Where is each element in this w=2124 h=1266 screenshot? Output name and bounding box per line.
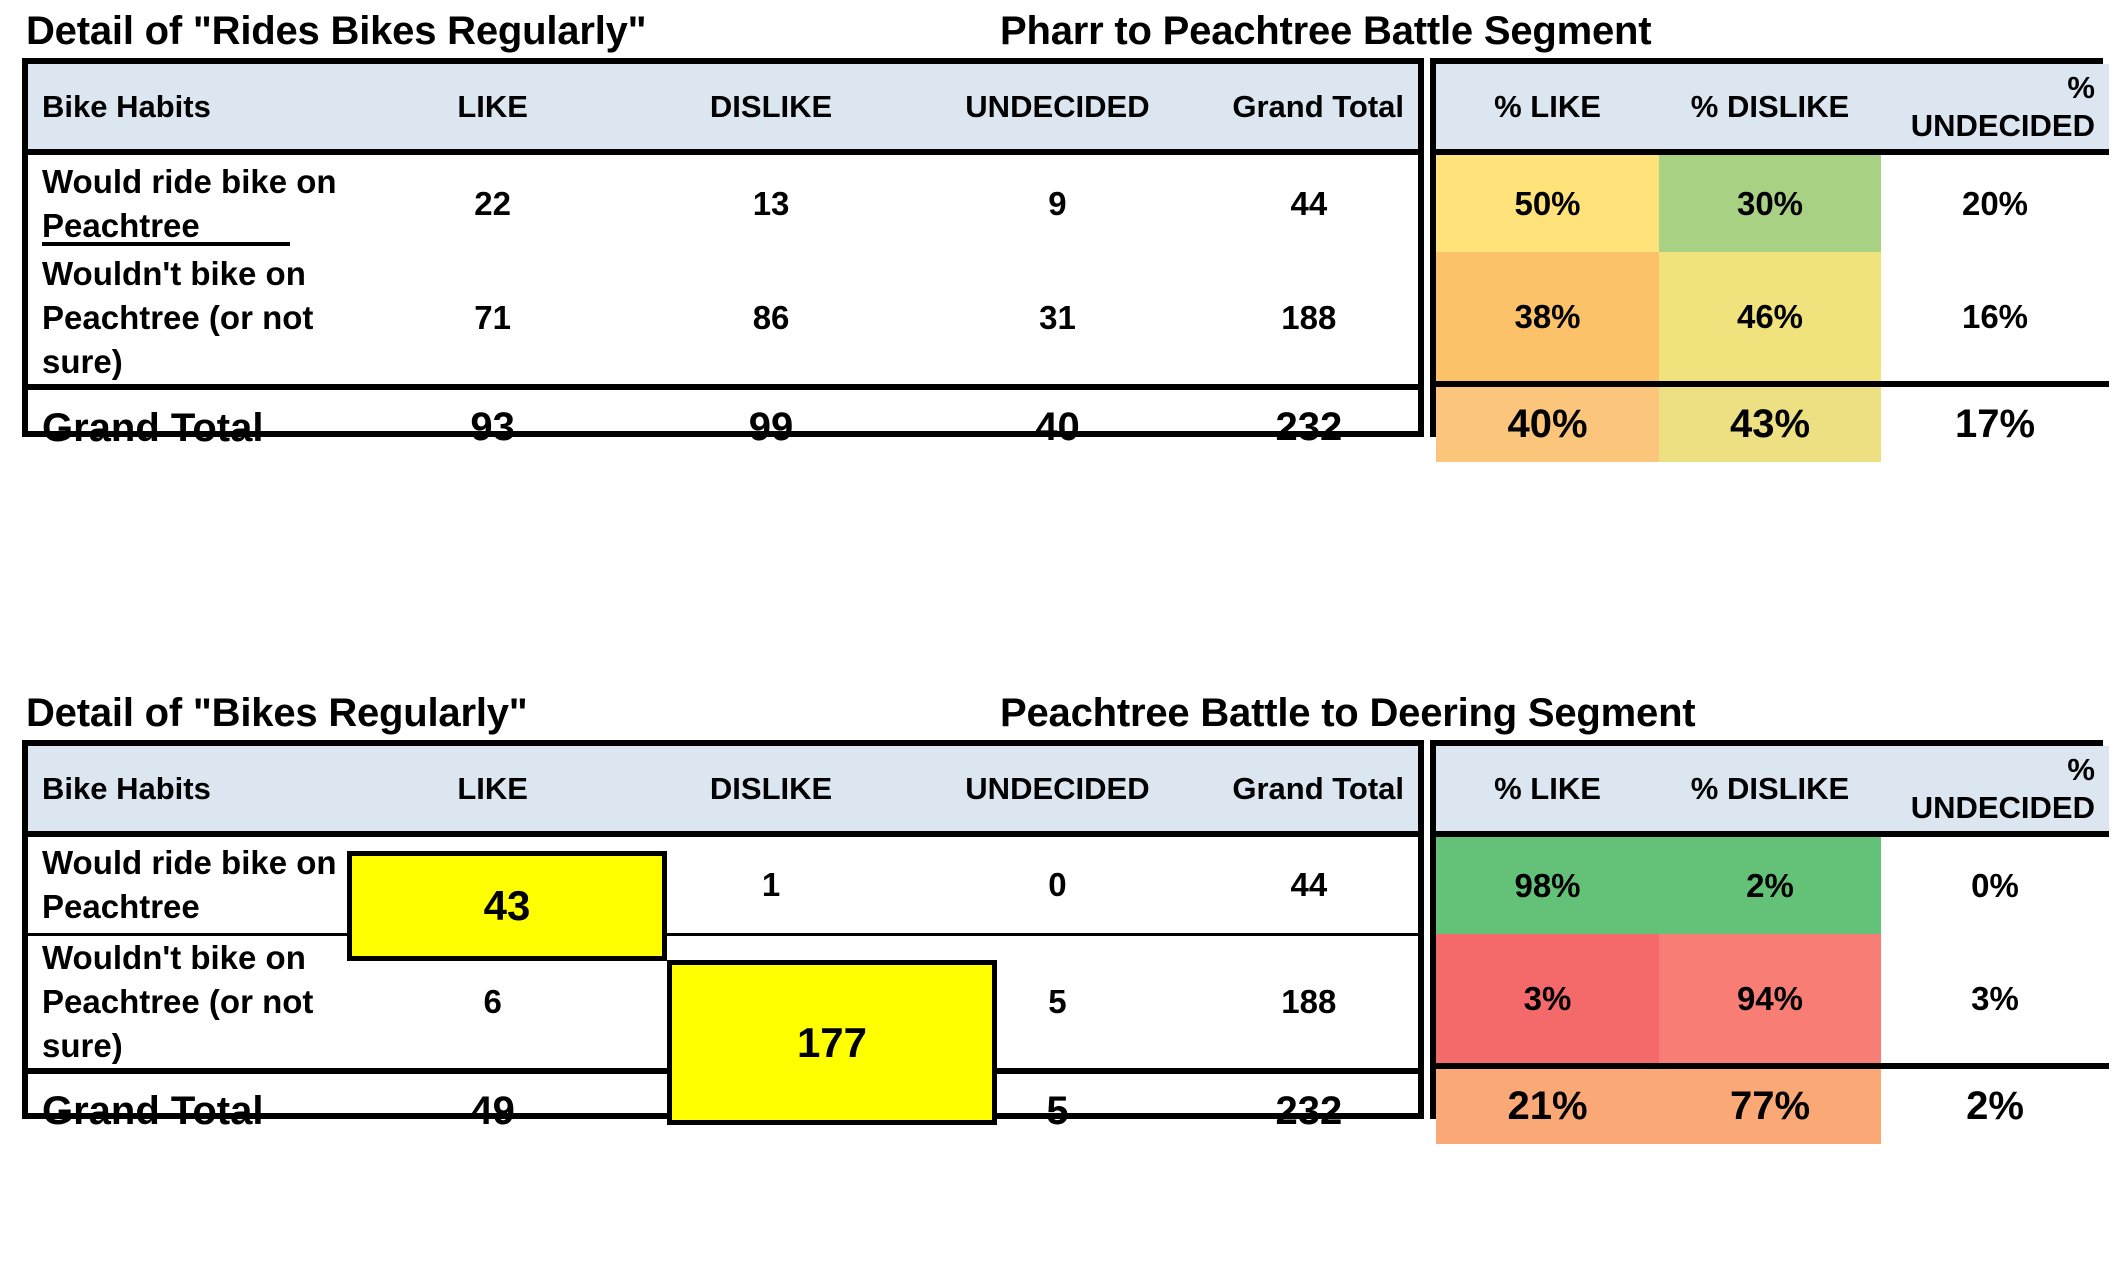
col-header-pct-undecided: % UNDECIDED bbox=[1881, 746, 2109, 834]
table-row: Would ride bike on Peachtree 22 13 9 44 bbox=[28, 152, 1418, 252]
cell-pct-undecided: 16% bbox=[1881, 252, 2109, 384]
cell-pct-undecided: 2% bbox=[1881, 1066, 2109, 1144]
section-2-title-left: Detail of "Bikes Regularly" bbox=[26, 690, 528, 736]
row-label-grand-total: Grand Total bbox=[28, 387, 358, 465]
cell-dislike: 99 bbox=[627, 387, 915, 465]
table-row: 38% 46% 16% bbox=[1436, 252, 2109, 384]
cell-pct-dislike: 2% bbox=[1659, 834, 1881, 934]
row-label-wouldnt-bike: Wouldn't bike on Peachtree (or not sure) bbox=[28, 934, 358, 1071]
row-label-wouldnt-bike: Wouldn't bike on Peachtree (or not sure) bbox=[28, 252, 358, 387]
cell-undecided: 31 bbox=[915, 252, 1199, 387]
col-header-undecided: UNDECIDED bbox=[915, 64, 1199, 152]
section-2-title-right: Peachtree Battle to Deering Segment bbox=[1000, 690, 1695, 736]
col-header-like: LIKE bbox=[358, 746, 626, 834]
table-row: Wouldn't bike on Peachtree (or not sure)… bbox=[28, 252, 1418, 387]
cell-pct-dislike: 30% bbox=[1659, 152, 1881, 252]
cell-dislike: 13 bbox=[627, 152, 915, 252]
col-header-pct-undecided: % UNDECIDED bbox=[1881, 64, 2109, 152]
cell-total: 232 bbox=[1200, 387, 1418, 465]
col-header-pct-dislike: % DISLIKE bbox=[1659, 64, 1881, 152]
col-header-pct-dislike: % DISLIKE bbox=[1659, 746, 1881, 834]
cell-like: 71 bbox=[358, 252, 626, 387]
cell-like: 93 bbox=[358, 387, 626, 465]
cell-dislike: 1 bbox=[627, 834, 915, 934]
table-row: 3% 94% 3% bbox=[1436, 934, 2109, 1066]
table-header-row: Bike Habits LIKE DISLIKE UNDECIDED Grand… bbox=[28, 746, 1418, 834]
col-header-pct-like: % LIKE bbox=[1436, 64, 1659, 152]
infographic-page: Detail of "Rides Bikes Regularly" Pharr … bbox=[0, 0, 2124, 1266]
cell-undecided: 0 bbox=[915, 834, 1199, 934]
col-header-undecided: UNDECIDED bbox=[915, 746, 1199, 834]
col-header-dislike: DISLIKE bbox=[627, 746, 915, 834]
cell-pct-like: 50% bbox=[1436, 152, 1659, 252]
table-row: 50% 30% 20% bbox=[1436, 152, 2109, 252]
cell-pct-like: 98% bbox=[1436, 834, 1659, 934]
cell-total: 232 bbox=[1200, 1071, 1418, 1149]
section-1-counts-table: Bike Habits LIKE DISLIKE UNDECIDED Grand… bbox=[22, 58, 1424, 437]
section-2-percent-table: % LIKE % DISLIKE % UNDECIDED 98% 2% 0% 3… bbox=[1430, 740, 2103, 1119]
highlight-box-dislike-wouldnt-bike: 177 bbox=[667, 960, 997, 1125]
cell-total: 44 bbox=[1200, 152, 1418, 252]
row-label-would-ride: Would ride bike on Peachtree bbox=[28, 834, 358, 934]
table-header-row: Bike Habits LIKE DISLIKE UNDECIDED Grand… bbox=[28, 64, 1418, 152]
highlight-box-like-would-ride: 43 bbox=[347, 851, 667, 961]
table-header-row: % LIKE % DISLIKE % UNDECIDED bbox=[1436, 64, 2109, 152]
cell-total: 44 bbox=[1200, 834, 1418, 934]
cell-pct-like: 40% bbox=[1436, 384, 1659, 462]
col-header-bike-habits: Bike Habits bbox=[28, 746, 358, 834]
row-label-text: Would ride bike on Peachtree bbox=[42, 163, 337, 244]
table-row: Would ride bike on Peachtree 43 1 0 44 bbox=[28, 834, 1418, 934]
section-1-title-right: Pharr to Peachtree Battle Segment bbox=[1000, 8, 1651, 54]
section-1-percent-table: % LIKE % DISLIKE % UNDECIDED 50% 30% 20%… bbox=[1430, 58, 2103, 437]
cell-pct-dislike: 46% bbox=[1659, 252, 1881, 384]
table-header-row: % LIKE % DISLIKE % UNDECIDED bbox=[1436, 746, 2109, 834]
row-label-grand-total: Grand Total bbox=[28, 1071, 358, 1149]
cell-pct-dislike: 43% bbox=[1659, 384, 1881, 462]
table-grand-total-row: 40% 43% 17% bbox=[1436, 384, 2109, 462]
cell-pct-like: 3% bbox=[1436, 934, 1659, 1066]
cell-pct-undecided: 20% bbox=[1881, 152, 2109, 252]
col-header-like: LIKE bbox=[358, 64, 626, 152]
cell-total: 188 bbox=[1200, 252, 1418, 387]
row-label-would-ride: Would ride bike on Peachtree bbox=[28, 152, 358, 252]
section-2-titles: Detail of "Bikes Regularly" Peachtree Ba… bbox=[0, 690, 2124, 742]
section-1-titles: Detail of "Rides Bikes Regularly" Pharr … bbox=[0, 8, 2124, 60]
table-grand-total-row: Grand Total 93 99 40 232 bbox=[28, 387, 1418, 465]
col-header-grand-total: Grand Total bbox=[1200, 64, 1418, 152]
cell-like: 49 bbox=[358, 1071, 626, 1149]
col-header-pct-like: % LIKE bbox=[1436, 746, 1659, 834]
section-1-title-left: Detail of "Rides Bikes Regularly" bbox=[26, 8, 646, 54]
table-row: 98% 2% 0% bbox=[1436, 834, 2109, 934]
cell-total: 188 bbox=[1200, 934, 1418, 1071]
cell-dislike: 86 bbox=[627, 252, 915, 387]
cell-undecided: 40 bbox=[915, 387, 1199, 465]
cell-pct-like: 38% bbox=[1436, 252, 1659, 384]
table-grand-total-row: 21% 77% 2% bbox=[1436, 1066, 2109, 1144]
cell-pct-undecided: 0% bbox=[1881, 834, 2109, 934]
col-header-bike-habits: Bike Habits bbox=[28, 64, 358, 152]
cell-pct-like: 21% bbox=[1436, 1066, 1659, 1144]
cell-pct-undecided: 17% bbox=[1881, 384, 2109, 462]
cell-undecided: 9 bbox=[915, 152, 1199, 252]
col-header-dislike: DISLIKE bbox=[627, 64, 915, 152]
col-header-grand-total: Grand Total bbox=[1200, 746, 1418, 834]
cell-like: 22 bbox=[358, 152, 626, 252]
cell-pct-dislike: 77% bbox=[1659, 1066, 1881, 1144]
cell-pct-undecided: 3% bbox=[1881, 934, 2109, 1066]
cell-pct-dislike: 94% bbox=[1659, 934, 1881, 1066]
